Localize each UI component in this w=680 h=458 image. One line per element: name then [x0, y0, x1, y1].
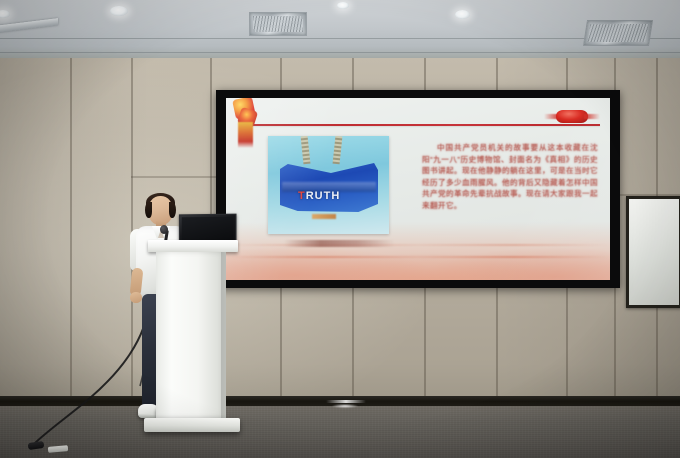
photo-overlay-rest: RUTH — [306, 190, 341, 202]
lectern-base — [144, 418, 240, 432]
air-vent-right — [583, 20, 653, 46]
slide-photo-caption — [284, 240, 394, 247]
lectern-body — [156, 252, 226, 418]
recessed-downlight-1 — [110, 6, 128, 16]
presenter-hand — [130, 292, 142, 303]
red-ribbon-ornament-icon — [544, 106, 600, 128]
lectern-top — [148, 240, 238, 252]
microphone-capsule-icon — [160, 225, 168, 234]
air-vent-left — [249, 12, 307, 36]
ceiling-light-slot — [0, 18, 58, 33]
slide-photo-blue-bag: TRUTH — [268, 136, 389, 234]
photo-overlay-highlight: T — [298, 190, 306, 202]
slide-body-text: 中国共产党员机关的故事要从这本收藏在沈阳“九一八”历史博物馆、封面名为《真相》的… — [422, 142, 598, 212]
ceiling — [0, 0, 680, 62]
projected-slide: TRUTH 中国共产党员机关的故事要从这本收藏在沈阳“九一八”历史博物馆、封面名… — [226, 98, 610, 280]
projection-screen[interactable]: TRUTH 中国共产党员机关的故事要从这本收藏在沈阳“九一八”历史博物馆、封面名… — [216, 90, 620, 288]
recessed-downlight-2 — [455, 10, 470, 19]
conference-room-photo: TRUTH 中国共产党员机关的故事要从这本收藏在沈阳“九一八”历史博物馆、封面名… — [0, 0, 680, 458]
carpet-floor — [0, 406, 680, 458]
wall-whiteboard[interactable] — [626, 196, 680, 308]
recessed-downlight-4 — [0, 10, 10, 18]
chinese-tassel-ornament-icon — [230, 98, 260, 152]
floor-light-reflection — [332, 404, 358, 408]
recessed-downlight-3 — [337, 2, 349, 9]
photo-overlay-text: TRUTH — [298, 190, 340, 202]
